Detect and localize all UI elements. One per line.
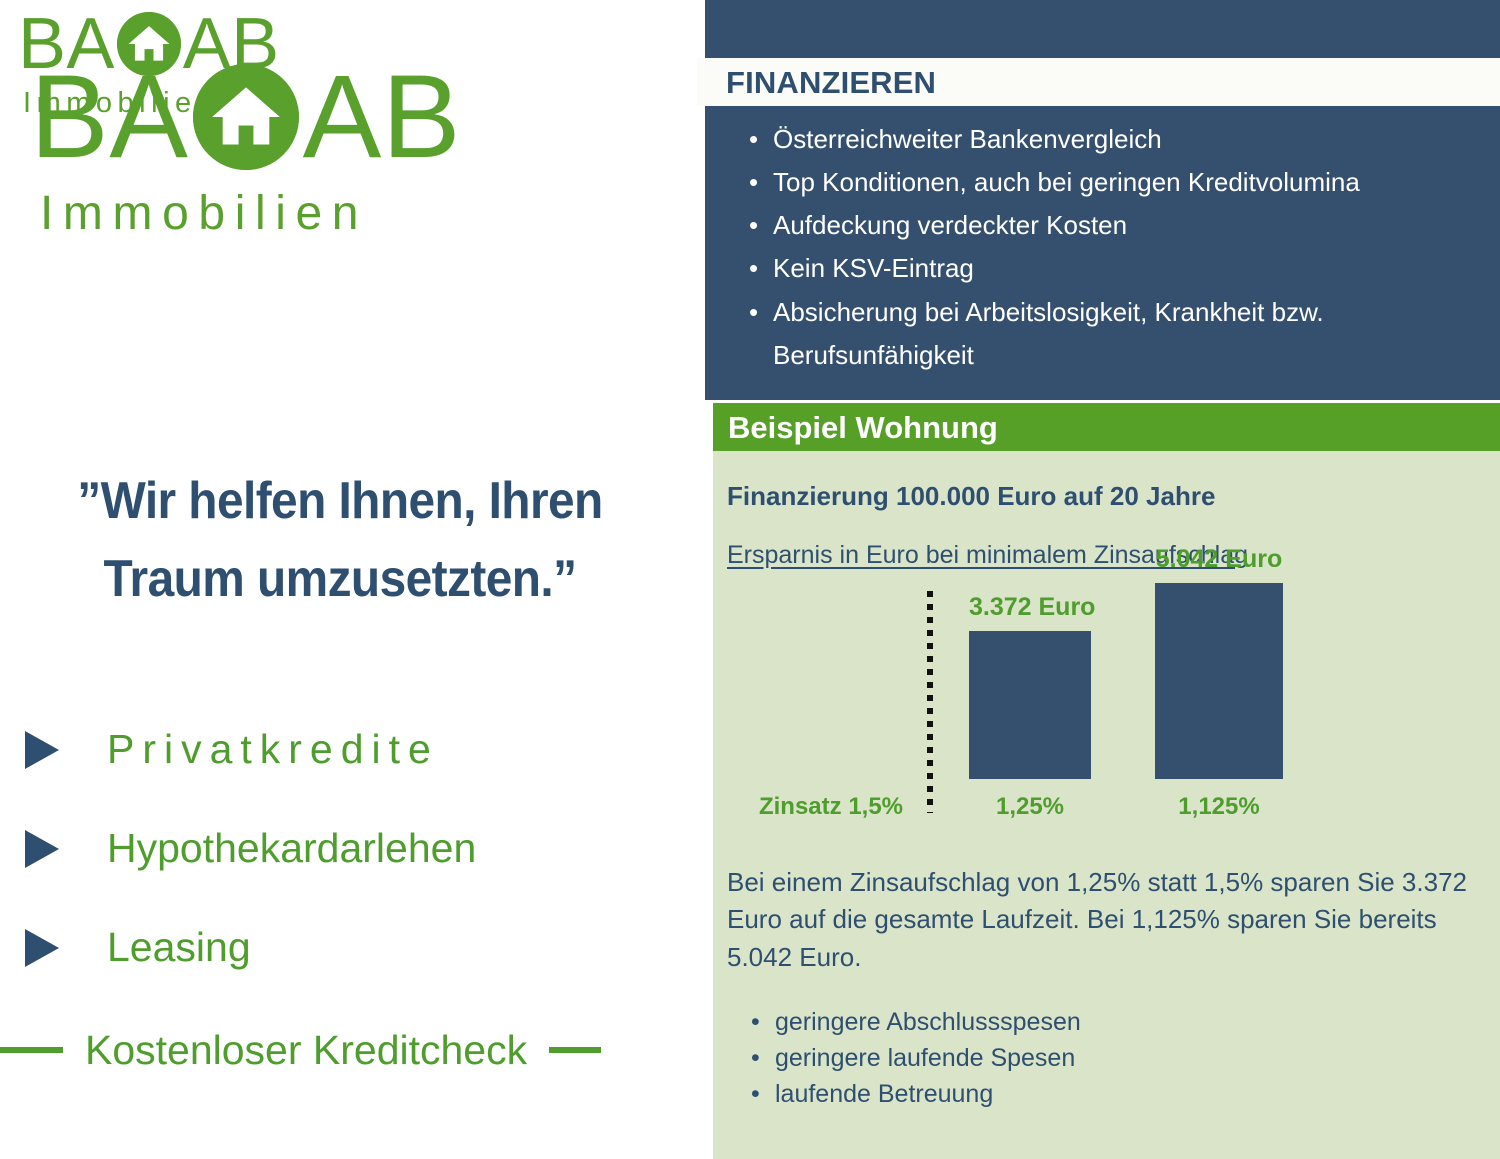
chart-axis-label-1: 1,25%	[969, 795, 1091, 819]
house-icon	[117, 12, 181, 76]
triangle-bullet-icon	[22, 827, 62, 871]
list-item: geringere laufende Spesen	[747, 1040, 1447, 1076]
logo-text-after: AB	[303, 58, 462, 176]
left-column: BA AB Immobilien BA	[0, 0, 705, 1159]
list-item: Top Konditionen, auch bei geringen Kredi…	[745, 161, 1485, 204]
service-item-privatkredite[interactable]: Privatkredite	[22, 700, 682, 799]
financing-section: FINANZIEREN Österreichweiter Bankenvergl…	[705, 0, 1500, 400]
example-section-title: Beispiel Wohnung	[728, 412, 998, 443]
section-title: FINANZIEREN	[726, 67, 936, 98]
rule-left	[0, 1047, 63, 1053]
headline-line-2: Traum umzusetzten.”	[27, 540, 653, 618]
chart-axis-label-2: 1,125%	[1155, 795, 1283, 819]
free-credit-check-label: Kostenloser Kreditcheck	[85, 1030, 527, 1071]
chart-axis-label-baseline: Zinsatz 1,5%	[751, 795, 911, 819]
logo-text-before: BA	[18, 8, 115, 80]
benefits-list: geringere Abschlussspesen geringere lauf…	[747, 1004, 1447, 1112]
service-item-leasing[interactable]: Leasing	[22, 898, 682, 997]
chart-bar-value-2: 5.042 Euro	[1155, 547, 1283, 572]
list-item: geringere Abschlussspesen	[747, 1004, 1447, 1040]
list-item: laufende Betreuung	[747, 1076, 1447, 1112]
service-label: Privatkredite	[107, 729, 439, 770]
list-item: Kein KSV-Eintrag	[745, 247, 1485, 290]
rule-right	[549, 1047, 601, 1053]
service-item-hypothekardarlehen[interactable]: Hypothekardarlehen	[22, 799, 682, 898]
chart-bar-1	[969, 631, 1091, 779]
logo-wordmark-small: BA AB	[18, 8, 280, 80]
chart-bar-value-1: 3.372 Euro	[969, 595, 1091, 620]
headline-quote: ”Wir helfen Ihnen, Ihren Traum umzusetzt…	[27, 462, 653, 618]
chart-bar-group-2: 5.042 Euro	[1155, 583, 1283, 779]
example-section-band: Beispiel Wohnung	[713, 403, 1500, 451]
feature-list: Österreichweiter Bankenvergleich Top Kon…	[745, 118, 1485, 377]
list-item-continuation: Berufsunfähigkeit	[745, 334, 1485, 377]
triangle-bullet-icon	[22, 926, 62, 970]
chart-dotted-divider	[927, 591, 933, 813]
chart-bar-group-1: 3.372 Euro	[969, 631, 1091, 779]
service-label: Hypothekardarlehen	[107, 828, 476, 869]
example-section-body: Finanzierung 100.000 Euro auf 20 Jahre E…	[713, 451, 1500, 1159]
list-item: Österreichweiter Bankenvergleich	[745, 118, 1485, 161]
savings-bar-chart: Zinsatz 1,5% 3.372 Euro 1,25% 5.042 Euro…	[727, 591, 1487, 831]
logo-tagline-large: Immobilien	[40, 190, 461, 238]
infographic-page: BA AB Immobilien BA	[0, 0, 1500, 1159]
logo-tagline-small: Immobilien	[23, 89, 280, 118]
free-credit-check-banner: Kostenloser Kreditcheck	[0, 1020, 705, 1080]
service-label: Leasing	[107, 927, 251, 968]
logo-lockup: BA AB Immobilien BA	[0, 0, 705, 250]
headline-line-1: ”Wir helfen Ihnen, Ihren	[27, 462, 653, 540]
logo-baobab-small: BA AB Immobilien	[18, 8, 280, 118]
right-column: FINANZIEREN Österreichweiter Bankenvergl…	[705, 0, 1500, 1159]
list-item: Aufdeckung verdeckter Kosten	[745, 204, 1485, 247]
list-item: Absicherung bei Arbeitslosigkeit, Krankh…	[745, 291, 1485, 334]
logo-text-after: AB	[183, 8, 280, 80]
financing-title: Finanzierung 100.000 Euro auf 20 Jahre	[727, 483, 1215, 509]
section-title-band: FINANZIEREN	[697, 58, 1500, 106]
explanation-paragraph: Bei einem Zinsaufschlag von 1,25% statt …	[727, 864, 1467, 976]
service-list: Privatkredite Hypothekardarlehen Leasing	[22, 700, 682, 997]
chart-bar-2	[1155, 583, 1283, 779]
triangle-bullet-icon	[22, 728, 62, 772]
